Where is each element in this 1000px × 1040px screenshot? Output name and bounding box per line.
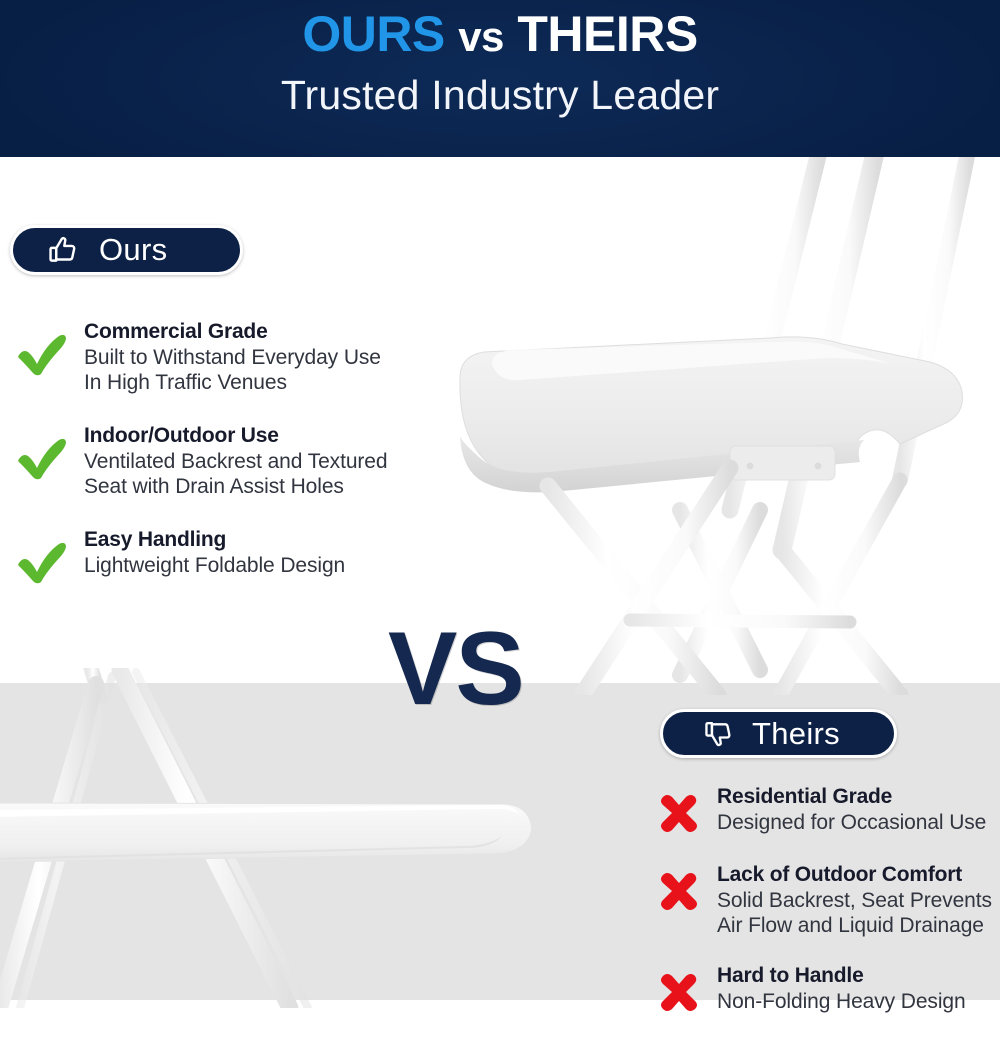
- list-item-title: Commercial Grade: [84, 320, 268, 343]
- thumbs-up-icon: [47, 233, 81, 267]
- list-item-title: Lack of Outdoor Comfort: [717, 863, 962, 886]
- header-banner: OURS vs THEIRS Trusted Industry Leader: [0, 0, 1000, 157]
- list-item-title: Easy Handling: [84, 528, 226, 551]
- green-check-icon: [14, 534, 70, 590]
- ours-feature-list: Commercial Grade Built to Withstand Ever…: [14, 318, 484, 617]
- red-x-icon: [655, 968, 703, 1016]
- page-title: OURS vs THEIRS: [0, 6, 1000, 65]
- list-item: Indoor/Outdoor Use Ventilated Backrest a…: [14, 422, 484, 499]
- green-check-icon: [14, 430, 70, 486]
- theirs-badge: Theirs: [660, 709, 897, 758]
- page-subtitle: Trusted Industry Leader: [0, 70, 1000, 120]
- title-ours-word: OURS: [302, 6, 444, 62]
- green-check-icon: [14, 326, 70, 382]
- theirs-drawback-list: Residential Grade Designed for Occasiona…: [655, 783, 1000, 1040]
- red-x-icon: [655, 867, 703, 915]
- theirs-badge-label: Theirs: [752, 716, 840, 752]
- title-theirs-word: THEIRS: [517, 6, 697, 62]
- ours-badge: Ours: [10, 225, 243, 275]
- list-item-desc: Non-Folding Heavy Design: [717, 989, 966, 1014]
- list-item-desc: Lightweight Foldable Design: [84, 553, 345, 578]
- list-item-desc: Ventilated Backrest and Textured: [84, 449, 387, 474]
- list-item-title: Indoor/Outdoor Use: [84, 424, 279, 447]
- list-item-desc: Designed for Occasional Use: [717, 810, 986, 835]
- list-item: Lack of Outdoor Comfort Solid Backrest, …: [655, 861, 1000, 938]
- list-item-desc: Solid Backrest, Seat Prevents: [717, 888, 992, 913]
- list-item: Easy Handling Lightweight Foldable Desig…: [14, 526, 484, 590]
- list-item-desc: In High Traffic Venues: [84, 370, 381, 395]
- list-item-desc: Built to Withstand Everyday Use: [84, 345, 381, 370]
- list-item: Hard to Handle Non-Folding Heavy Design: [655, 962, 1000, 1016]
- list-item-title: Residential Grade: [717, 785, 892, 808]
- vs-divider-label: VS: [388, 617, 523, 721]
- list-item: Residential Grade Designed for Occasiona…: [655, 783, 1000, 837]
- list-item-desc: Air Flow and Liquid Drainage: [717, 913, 992, 938]
- list-item-desc: Seat with Drain Assist Holes: [84, 474, 387, 499]
- red-x-icon: [655, 789, 703, 837]
- thumbs-down-icon: [703, 717, 736, 750]
- list-item: Commercial Grade Built to Withstand Ever…: [14, 318, 484, 395]
- ours-badge-label: Ours: [99, 232, 167, 268]
- title-vs-word: vs: [458, 13, 504, 60]
- list-item-title: Hard to Handle: [717, 964, 864, 987]
